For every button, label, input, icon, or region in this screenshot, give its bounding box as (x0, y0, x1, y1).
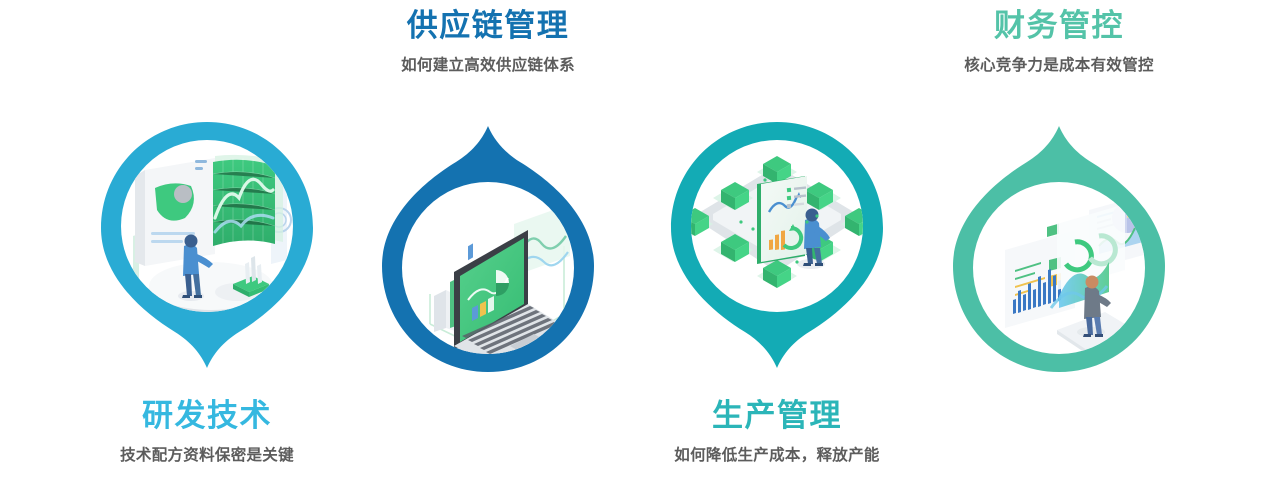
pin-graphic-rd-technology[interactable] (87, 114, 327, 376)
pin-block-financial-control: 财务管控 核心竞争力是成本有效管控 (901, 0, 1217, 488)
pin-text-production-management: 生产管理 如何降低生产成本，释放产能 (619, 396, 935, 467)
pin-text-supply-chain: 供应链管理 如何建立高效供应链体系 (330, 6, 646, 77)
pin-block-rd-technology: 研发技术 技术配方资料保密是关键 (49, 0, 365, 488)
pin-graphic-production-management[interactable] (657, 114, 897, 376)
pin-title: 生产管理 (619, 396, 935, 436)
infographic-board: 研发技术 技术配方资料保密是关键 (0, 0, 1263, 488)
pin-graphic-supply-chain[interactable] (368, 118, 608, 380)
production-line-illustration (657, 114, 897, 376)
pin-text-financial-control: 财务管控 核心竞争力是成本有效管控 (901, 6, 1217, 77)
pin-block-supply-chain: 供应链管理 如何建立高效供应链体系 (330, 0, 646, 488)
finance-dashboard-illustration (939, 118, 1179, 380)
pin-subtitle: 核心竞争力是成本有效管控 (901, 55, 1217, 77)
pin-subtitle: 如何建立高效供应链体系 (330, 55, 646, 77)
pin-title: 财务管控 (901, 6, 1217, 46)
pin-title: 研发技术 (49, 396, 365, 436)
pin-graphic-financial-control[interactable] (939, 118, 1179, 380)
pin-block-production-management: 生产管理 如何降低生产成本，释放产能 (619, 0, 935, 488)
pin-subtitle: 技术配方资料保密是关键 (49, 445, 365, 467)
pin-text-rd-technology: 研发技术 技术配方资料保密是关键 (49, 396, 365, 467)
pin-title: 供应链管理 (330, 6, 646, 46)
research-lab-illustration (87, 114, 327, 376)
laptop-analytics-illustration (368, 118, 608, 380)
pin-subtitle: 如何降低生产成本，释放产能 (619, 445, 935, 467)
